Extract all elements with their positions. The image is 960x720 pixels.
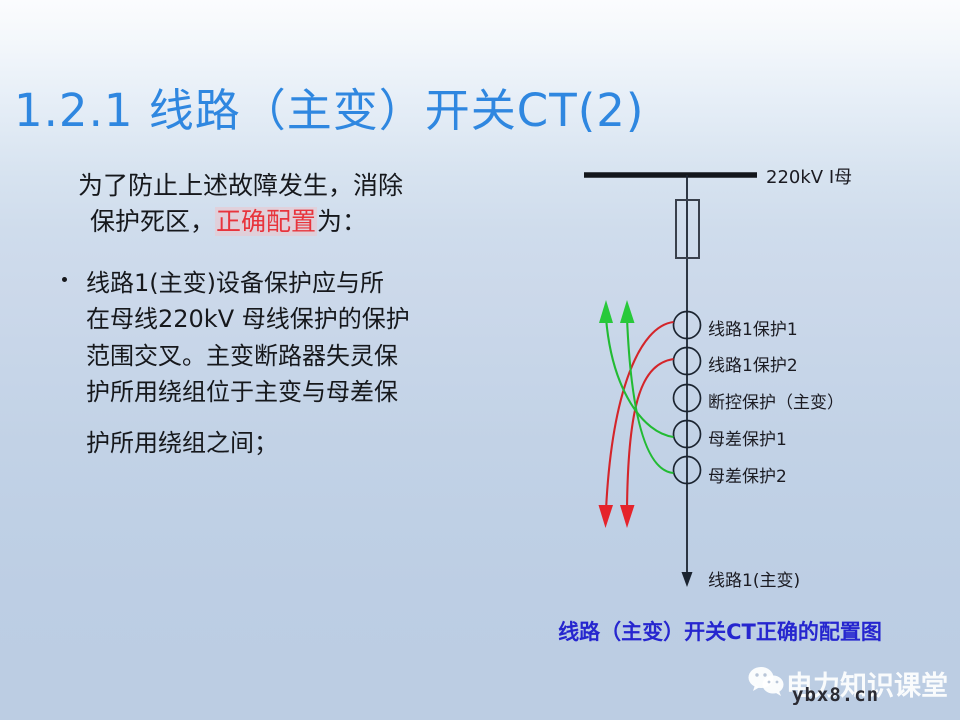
output-line-label: 线路1(主变) [708,566,800,591]
red-arrowhead-2-icon [620,505,635,528]
bullet-line-1: 线路1(主变)设备保护应与所 [78,265,468,301]
diagram-caption: 线路（主变）开关CT正确的配置图 [520,616,920,646]
intro-line-2-pre: 保护死区， [90,207,215,236]
output-arrowhead-icon [682,572,693,587]
intro-line-2: 保护死区，正确配置为： [78,204,468,240]
busbar-label: 220kV I母 [766,163,852,189]
highlight-correct-config: 正确配置 [215,207,317,236]
ct-label-1: 线路1保护1 [708,315,798,340]
green-arrowhead-1-icon [599,300,613,323]
red-arrowhead-1-icon [599,505,614,528]
ct-label-5: 母差保护2 [708,462,787,487]
ct-label-2: 线路1保护2 [708,351,798,376]
watermark: 电力知识课堂 ybx8.cn [748,660,953,710]
bullet-line-4: 护所用绕组位于主变与母差保 [78,374,468,410]
ct-label-4: 母差保护1 [708,425,787,450]
intro-line-2-post: 为： [317,207,367,236]
slide-canvas: 1.2.1 线路（主变）开关CT(2) 为了防止上述故障发生，消除 保护死区，正… [0,0,960,720]
intro-paragraph: 为了防止上述故障发生，消除 保护死区，正确配置为： [78,168,468,239]
intro-line-1: 为了防止上述故障发生，消除 [78,171,403,200]
body-text-block: 为了防止上述故障发生，消除 保护死区，正确配置为： 线路1(主变)设备保护应与所… [78,168,468,461]
bullet-line-2: 在母线220kV 母线保护的保护 [78,301,468,337]
watermark-url: ybx8.cn [792,684,879,706]
bullet-line-3: 范围交叉。主变断路器失灵保 [78,338,468,374]
green-arrowhead-2-icon [620,300,635,323]
green-zone-curve-2 [627,318,674,473]
bullet-dot-icon [62,277,67,282]
wechat-icon [748,666,784,696]
page-title: 1.2.1 线路（主变）开关CT(2) [14,86,644,136]
ct-label-3: 断控保护（主变） [708,388,844,413]
bullet-line-5: 护所用绕组之间； [78,425,468,461]
bullet-item: 线路1(主变)设备保护应与所 在母线220kV 母线保护的保护 范围交叉。主变断… [78,265,468,461]
single-line-diagram: 220kV I母 线路1保护1 线路1保护2 断控保护（主变） 母差保护1 母差… [480,140,960,650]
